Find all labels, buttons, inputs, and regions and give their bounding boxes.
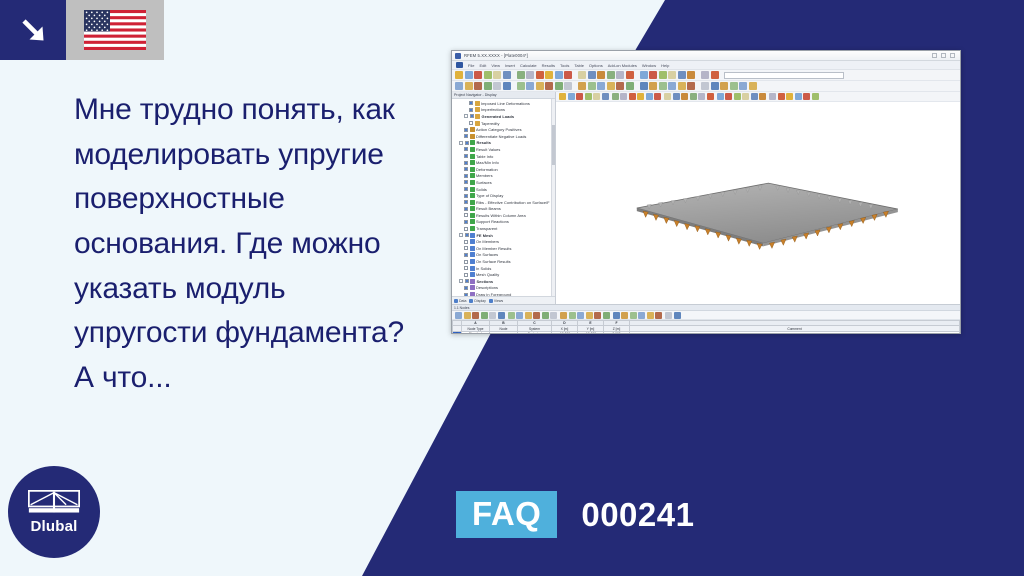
- tree-item-icon: [470, 239, 475, 244]
- toolbar-button-icon[interactable]: [607, 82, 615, 90]
- toolbar-button-icon[interactable]: [720, 82, 728, 90]
- menu-bar[interactable]: File Edit View Insert Calculate Results …: [452, 61, 960, 70]
- tree-item-icon: [470, 259, 475, 264]
- toolbar-button-icon[interactable]: [778, 93, 785, 100]
- tree-item-checkbox[interactable]: [470, 114, 474, 118]
- tree-item-icon: [470, 160, 475, 165]
- tree-item-checkbox[interactable]: [464, 213, 468, 217]
- tree-item-label: Table Info: [476, 154, 493, 159]
- toolbar-button-icon[interactable]: [730, 82, 738, 90]
- tree-item-icon: [470, 219, 475, 224]
- tree-item-checkbox[interactable]: [465, 279, 469, 283]
- toolbar-button-icon[interactable]: [559, 93, 566, 100]
- toolbar-button-icon[interactable]: [577, 312, 584, 319]
- viewport-toolbar[interactable]: [556, 92, 960, 102]
- tree-item-checkbox[interactable]: [464, 246, 468, 250]
- faq-badge: FAQ: [456, 491, 557, 538]
- toolbar-button-icon[interactable]: [568, 93, 575, 100]
- toolbar-button-icon[interactable]: [560, 312, 567, 319]
- navigator-tree-item[interactable]: In Solids: [452, 265, 555, 272]
- tree-item-label: Action Category Positives: [476, 127, 522, 132]
- tree-item-icon: [470, 154, 475, 159]
- toolbar-button-icon[interactable]: [640, 82, 648, 90]
- toolbar-button-icon[interactable]: [545, 82, 553, 90]
- navigator-tree-item[interactable]: Generated Loads: [452, 113, 555, 120]
- toolbar-button-icon[interactable]: [687, 82, 695, 90]
- navigator-tree-item[interactable]: Result Values: [452, 146, 555, 153]
- menu-item[interactable]: Window: [642, 63, 656, 68]
- toolbar-button-icon[interactable]: [484, 82, 492, 90]
- tree-item-label: Result Beams: [476, 206, 501, 211]
- menu-item[interactable]: Options: [589, 63, 603, 68]
- toolbar-button-icon[interactable]: [701, 71, 709, 79]
- toolbar-button-icon[interactable]: [678, 82, 686, 90]
- menu-item[interactable]: Calculate: [520, 63, 537, 68]
- toolbar-button-icon[interactable]: [717, 93, 724, 100]
- toolbar-button-icon[interactable]: [516, 312, 523, 319]
- navigator-tree-item[interactable]: Solids: [452, 186, 555, 193]
- toolbar-button-icon[interactable]: [576, 93, 583, 100]
- navigator-tree-item[interactable]: Imposed Line Deformations: [452, 100, 555, 107]
- tree-item-label: Draw in Foreground: [476, 292, 511, 296]
- table-cell[interactable]: -: [490, 331, 518, 334]
- tree-item-checkbox[interactable]: [464, 273, 468, 277]
- tree-item-label: On Surface Results: [476, 259, 511, 264]
- tree-item-label: In Solids: [476, 266, 491, 271]
- toolbar-button-icon[interactable]: [616, 71, 624, 79]
- tree-item-checkbox[interactable]: [464, 154, 468, 158]
- navigator-tree-item[interactable]: Results Within Column Area: [452, 212, 555, 219]
- tree-item-icon: [470, 292, 475, 296]
- tree-item-icon: [470, 266, 475, 271]
- navigator-tree-item[interactable]: Draw in Foreground: [452, 291, 555, 296]
- tree-item-label: Generated Loads: [482, 114, 515, 119]
- toolbar-button-icon[interactable]: [542, 312, 549, 319]
- tree-item-label: Results Within Column Area: [476, 213, 526, 218]
- tree-item-label: On Members: [476, 239, 499, 244]
- main-toolbar[interactable]: [452, 70, 960, 81]
- toolbar-button-icon[interactable]: [616, 82, 624, 90]
- tree-item-checkbox[interactable]: [464, 194, 468, 198]
- tree-item-icon: [475, 101, 480, 106]
- toolbar-button-icon[interactable]: [659, 82, 667, 90]
- navigator-tree-item[interactable]: Imperfections: [452, 107, 555, 114]
- toolbar-button-icon[interactable]: [550, 312, 557, 319]
- tree-item-icon: [470, 200, 475, 205]
- navigator-tree-item[interactable]: On Surface Results: [452, 258, 555, 265]
- tree-item-icon: [470, 180, 475, 185]
- truss-frame-icon: [27, 490, 81, 516]
- arrow-down-right-icon: [16, 13, 50, 47]
- navigator-scrollbar[interactable]: [551, 99, 555, 296]
- navigator-tree-item[interactable]: On Surfaces: [452, 252, 555, 259]
- toolbar-button-icon[interactable]: [481, 312, 488, 319]
- tree-item-checkbox[interactable]: [464, 240, 468, 244]
- row-number-cell[interactable]: 1: [453, 331, 462, 334]
- toolbar-button-icon[interactable]: [474, 82, 482, 90]
- toolbar-button-icon[interactable]: [472, 312, 479, 319]
- toolbar-button-icon[interactable]: [701, 82, 709, 90]
- tree-item-label: Descriptions: [476, 285, 498, 290]
- tree-item-icon: [470, 252, 475, 257]
- tree-item-icon: [475, 114, 480, 119]
- tree-item-checkbox[interactable]: [464, 128, 468, 132]
- toolbar-button-icon[interactable]: [455, 82, 463, 90]
- tree-item-checkbox[interactable]: [464, 167, 468, 171]
- tree-item-label: Transparent: [476, 226, 497, 231]
- close-button[interactable]: [950, 53, 955, 58]
- faq-number: 000241: [581, 498, 694, 531]
- tree-item-label: Members: [476, 173, 493, 178]
- toolbar-button-icon[interactable]: [665, 312, 672, 319]
- tree-item-checkbox[interactable]: [465, 233, 469, 237]
- tree-item-checkbox[interactable]: [469, 121, 473, 125]
- navigator-tree-item[interactable]: Mesh Quality: [452, 271, 555, 278]
- tree-item-icon: [470, 213, 475, 218]
- tree-item-label: Max/Min Info: [476, 160, 499, 165]
- tree-item-label: On Surfaces: [476, 252, 498, 257]
- toolbar-button-icon[interactable]: [555, 71, 563, 79]
- navigator-header: Project Navigator - Display: [452, 92, 555, 99]
- window-title: RFEM 5.XX.XXXX - [Plate0004*]: [464, 53, 528, 58]
- menu-item[interactable]: Insert: [505, 63, 515, 68]
- tree-item-icon: [470, 285, 475, 290]
- toolbar-button-icon[interactable]: [564, 71, 572, 79]
- toolbar-button-icon[interactable]: [786, 93, 793, 100]
- tree-item-label: Taperedity: [481, 121, 499, 126]
- table-panel[interactable]: 1.1 Nodes ABCDEFNode TypeNodeSystemX [m]…: [452, 304, 960, 334]
- toolbar-button-icon[interactable]: [503, 82, 511, 90]
- tree-expander-icon[interactable]: [459, 279, 463, 283]
- toolbar-button-icon[interactable]: [698, 93, 705, 100]
- tree-item-label: Surfaces: [476, 180, 492, 185]
- toolbar-button-icon[interactable]: [638, 312, 645, 319]
- toolbar-button-icon[interactable]: [640, 71, 648, 79]
- tree-item-label: Support Reactions: [476, 219, 509, 224]
- tree-item-checkbox[interactable]: [464, 253, 468, 257]
- toolbar-button-icon[interactable]: [555, 82, 563, 90]
- navigator-tree-item[interactable]: Table Info: [452, 153, 555, 160]
- navigator-tree-item[interactable]: Type of Display: [452, 192, 555, 199]
- work-area: Project Navigator - Display Imposed Line…: [452, 92, 960, 304]
- toolbar-button-icon[interactable]: [564, 82, 572, 90]
- navigator-tree-item[interactable]: On Members: [452, 238, 555, 245]
- table-cell[interactable]: -10.000: [578, 331, 604, 334]
- load-case-combo[interactable]: [724, 72, 844, 79]
- tree-item-icon: [470, 233, 475, 238]
- toolbar-button-icon[interactable]: [525, 312, 532, 319]
- toolbar-button-icon[interactable]: [588, 82, 596, 90]
- toolbar-button-icon[interactable]: [585, 93, 592, 100]
- tree-item-label: Differentiate Negative Loads: [476, 134, 526, 139]
- menu-item[interactable]: Results: [542, 63, 555, 68]
- toolbar-button-icon[interactable]: [637, 93, 644, 100]
- tree-item-checkbox[interactable]: [464, 134, 468, 138]
- toolbar-button-icon[interactable]: [489, 312, 496, 319]
- tree-item-label: Solids: [476, 187, 487, 192]
- toolbar-button-icon[interactable]: [536, 82, 544, 90]
- toolbar-button-icon[interactable]: [464, 312, 471, 319]
- tree-item-icon: [470, 272, 475, 277]
- navigator-tree-item[interactable]: Taperedity: [452, 120, 555, 127]
- tree-item-label: Imperfections: [481, 107, 505, 112]
- navigator-tree[interactable]: Imposed Line DeformationsImperfectionsGe…: [452, 99, 555, 296]
- navigator-tree-item[interactable]: Descriptions: [452, 285, 555, 292]
- tree-item-checkbox[interactable]: [464, 220, 468, 224]
- navigator-tree-item[interactable]: Deformation: [452, 166, 555, 173]
- navigator-tree-item[interactable]: Max/Min Info: [452, 159, 555, 166]
- tree-item-label: FE Mesh: [477, 233, 493, 238]
- toolbar-button-icon[interactable]: [586, 312, 593, 319]
- rfem-app-icon: [455, 53, 461, 59]
- dlubal-logo: Dlubal: [8, 466, 100, 558]
- toolbar-button-icon[interactable]: [711, 82, 719, 90]
- tree-item-icon: [470, 134, 475, 139]
- tree-item-checkbox[interactable]: [464, 174, 468, 178]
- toolbar-button-icon[interactable]: [647, 312, 654, 319]
- toolbar-button-icon[interactable]: [690, 93, 697, 100]
- toolbar-button-icon[interactable]: [812, 93, 819, 100]
- toolbar-button-icon[interactable]: [503, 71, 511, 79]
- menu-item[interactable]: File: [468, 63, 474, 68]
- menu-item[interactable]: View: [491, 63, 500, 68]
- menu-item[interactable]: Add-on Modules: [608, 63, 637, 68]
- tree-item-label: Deformation: [476, 167, 498, 172]
- tree-item-icon: [470, 173, 475, 178]
- table-cell[interactable]: Cartesian: [518, 331, 552, 334]
- toolbar-button-icon[interactable]: [517, 71, 525, 79]
- navigator-tree-item[interactable]: Members: [452, 173, 555, 180]
- tree-item-checkbox[interactable]: [464, 147, 468, 151]
- tree-item-icon: [470, 206, 475, 211]
- tree-item-icon: [470, 127, 475, 132]
- navigator-tree-item[interactable]: Action Category Positives: [452, 126, 555, 133]
- logo-wordmark: Dlubal: [30, 519, 77, 534]
- toolbar-button-icon[interactable]: [493, 71, 501, 79]
- toolbar-button-icon[interactable]: [493, 82, 501, 90]
- tree-item-icon: [475, 107, 480, 112]
- toolbar-button-icon[interactable]: [649, 71, 657, 79]
- table-cell[interactable]: 0.000: [604, 331, 630, 334]
- toolbar-button-icon[interactable]: [795, 93, 802, 100]
- toolbar-button-icon[interactable]: [517, 82, 525, 90]
- table-cell[interactable]: [630, 331, 960, 334]
- tree-item-checkbox[interactable]: [464, 227, 468, 231]
- sheet: ABCDEFNode TypeNodeSystemX [m]Y [m]Z [m]…: [452, 320, 960, 334]
- navigator-tree-item[interactable]: Ribs - Effective Contribution on Surface…: [452, 199, 555, 206]
- arrow-badge: [0, 0, 66, 60]
- toolbar-button-icon[interactable]: [620, 93, 627, 100]
- tree-item-icon: [470, 193, 475, 198]
- toolbar-button-icon[interactable]: [465, 71, 473, 79]
- toolbar-button-icon[interactable]: [455, 71, 463, 79]
- page-title: Мне трудно понять, как моделировать упру…: [74, 88, 426, 401]
- toolbar-button-icon[interactable]: [526, 71, 534, 79]
- tree-item-icon: [470, 246, 475, 251]
- slide-canvas: Мне трудно понять, как моделировать упру…: [0, 0, 1024, 576]
- toolbar-button-icon[interactable]: [649, 82, 657, 90]
- tree-expander-icon[interactable]: [459, 233, 463, 237]
- toolbar-button-icon[interactable]: [465, 82, 473, 90]
- language-flag-badge[interactable]: [66, 0, 164, 60]
- tree-item-icon: [470, 187, 475, 192]
- tree-item-checkbox[interactable]: [464, 286, 468, 290]
- table-row[interactable]: 1Standard-Cartesian-10.000-10.0000.000: [453, 331, 960, 334]
- tree-item-checkbox[interactable]: [469, 101, 473, 105]
- tree-item-label: Type of Display: [476, 193, 503, 198]
- toolbar-button-icon[interactable]: [630, 312, 637, 319]
- toolbar-button-icon[interactable]: [621, 312, 628, 319]
- tree-item-icon: [470, 226, 475, 231]
- toolbar-button-icon[interactable]: [569, 312, 576, 319]
- navigator-tree-item[interactable]: Differentiate Negative Loads: [452, 133, 555, 140]
- toolbar-button-icon[interactable]: [769, 93, 776, 100]
- toolbar-button-icon[interactable]: [678, 71, 686, 79]
- table-cell[interactable]: -10.000: [552, 331, 578, 334]
- tree-item-label: Ribs - Effective Contribution on Surface…: [476, 200, 550, 205]
- toolbar-button-icon[interactable]: [533, 312, 540, 319]
- tree-item-icon: [475, 121, 480, 126]
- navigator-tab-views[interactable]: Views: [489, 299, 503, 303]
- toolbar-button-icon[interactable]: [474, 71, 482, 79]
- maximize-button[interactable]: [941, 53, 946, 58]
- menu-item[interactable]: Table: [574, 63, 584, 68]
- toolbar-button-icon[interactable]: [646, 93, 653, 100]
- toolbar-button-icon[interactable]: [593, 93, 600, 100]
- corner-header: [0, 0, 164, 60]
- tree-item-icon: [470, 279, 475, 284]
- tree-item-icon: [470, 167, 475, 172]
- tree-item-label: Mesh Quality: [476, 272, 499, 277]
- toolbar-button-icon[interactable]: [594, 312, 601, 319]
- toolbar-button-icon[interactable]: [664, 93, 671, 100]
- tree-item-icon: [470, 140, 475, 145]
- navigator-tree-item[interactable]: On Member Results: [452, 245, 555, 252]
- navigator-tree-item[interactable]: Sections: [452, 278, 555, 285]
- toolbar-button-icon[interactable]: [673, 93, 680, 100]
- navigator-tree-item[interactable]: Surfaces: [452, 179, 555, 186]
- toolbar-button-icon[interactable]: [536, 71, 544, 79]
- toolbar-button-icon[interactable]: [681, 93, 688, 100]
- toolbar-button-icon[interactable]: [613, 312, 620, 319]
- minimize-button[interactable]: [932, 53, 937, 58]
- tree-item-checkbox[interactable]: [465, 141, 469, 145]
- window-controls[interactable]: [932, 53, 957, 58]
- navigator-tree-item[interactable]: Transparent: [452, 225, 555, 232]
- toolbar-button-icon[interactable]: [711, 71, 719, 79]
- tree-item-checkbox[interactable]: [464, 187, 468, 191]
- nodes-table[interactable]: ABCDEFNode TypeNodeSystemX [m]Y [m]Z [m]…: [452, 320, 960, 334]
- menu-logo-icon: [456, 62, 463, 68]
- menu-item[interactable]: Tools: [560, 63, 569, 68]
- toolbar-button-icon[interactable]: [674, 312, 681, 319]
- rfem-application-window[interactable]: RFEM 5.XX.XXXX - [Plate0004*] File Edit …: [451, 50, 961, 334]
- tree-item-label: Result Values: [476, 147, 500, 152]
- toolbar-button-icon[interactable]: [751, 93, 758, 100]
- toolbar-button-icon[interactable]: [607, 71, 615, 79]
- toolbar-button-icon[interactable]: [597, 82, 605, 90]
- toolbar-button-icon[interactable]: [597, 71, 605, 79]
- window-titlebar[interactable]: RFEM 5.XX.XXXX - [Plate0004*]: [452, 51, 960, 61]
- tree-item-checkbox[interactable]: [469, 108, 473, 112]
- navigator-tab-display[interactable]: Display: [469, 299, 485, 303]
- navigator-tree-item[interactable]: Support Reactions: [452, 219, 555, 226]
- us-flag-icon: [84, 10, 146, 50]
- toolbar-button-icon[interactable]: [759, 93, 766, 100]
- navigator-tree-item[interactable]: Results: [452, 140, 555, 147]
- toolbar-button-icon[interactable]: [668, 71, 676, 79]
- tree-item-label: On Member Results: [476, 246, 511, 251]
- toolbar-button-icon[interactable]: [508, 312, 515, 319]
- plate-with-line-supports-3d-model: [556, 102, 960, 304]
- navigator-tabs[interactable]: Data Display Views: [452, 296, 555, 304]
- toolbar-button-icon[interactable]: [668, 82, 676, 90]
- tree-item-checkbox[interactable]: [464, 200, 468, 204]
- toolbar-button-icon[interactable]: [659, 71, 667, 79]
- toolbar-button-icon[interactable]: [749, 82, 757, 90]
- toolbar-button-icon[interactable]: [725, 93, 732, 100]
- tree-item-label: Imposed Line Deformations: [481, 101, 530, 106]
- table-cell[interactable]: Standard: [462, 331, 490, 334]
- toolbar-button-icon[interactable]: [603, 312, 610, 319]
- toolbar-button-icon[interactable]: [588, 71, 596, 79]
- tree-expander-icon[interactable]: [459, 141, 463, 145]
- menu-item[interactable]: Edit: [479, 63, 486, 68]
- navigator-tree-item[interactable]: Result Beams: [452, 206, 555, 213]
- tree-item-label: Results: [477, 140, 491, 145]
- toolbar-button-icon[interactable]: [742, 93, 749, 100]
- navigator-tree-item[interactable]: FE Mesh: [452, 232, 555, 239]
- toolbar-button-icon[interactable]: [578, 82, 586, 90]
- toolbar-button-icon[interactable]: [455, 312, 462, 319]
- tree-item-checkbox[interactable]: [464, 266, 468, 270]
- toolbar-button-icon[interactable]: [526, 82, 534, 90]
- toolbar-button-icon[interactable]: [687, 71, 695, 79]
- toolbar-button-icon[interactable]: [498, 312, 505, 319]
- toolbar-button-icon[interactable]: [739, 82, 747, 90]
- tree-item-checkbox[interactable]: [464, 260, 468, 264]
- tree-item-checkbox[interactable]: [464, 180, 468, 184]
- toolbar-button-icon[interactable]: [545, 71, 553, 79]
- toolbar-button-icon[interactable]: [626, 71, 634, 79]
- tree-item-checkbox[interactable]: [464, 161, 468, 165]
- toolbar-button-icon[interactable]: [734, 93, 741, 100]
- toolbar-button-icon[interactable]: [655, 312, 662, 319]
- toolbar-button-icon[interactable]: [626, 82, 634, 90]
- toolbar-button-icon[interactable]: [803, 93, 810, 100]
- toolbar-button-icon[interactable]: [629, 93, 636, 100]
- tree-item-checkbox[interactable]: [464, 207, 468, 211]
- tree-item-label: Sections: [477, 279, 494, 284]
- navigator-tab-data[interactable]: Data: [454, 299, 466, 303]
- model-viewport[interactable]: [556, 92, 960, 304]
- secondary-toolbar[interactable]: [452, 81, 960, 92]
- project-navigator[interactable]: Project Navigator - Display Imposed Line…: [452, 92, 556, 304]
- menu-item[interactable]: Help: [661, 63, 669, 68]
- toolbar-button-icon[interactable]: [602, 93, 609, 100]
- toolbar-button-icon[interactable]: [654, 93, 661, 100]
- toolbar-button-icon[interactable]: [484, 71, 492, 79]
- toolbar-button-icon[interactable]: [578, 71, 586, 79]
- toolbar-button-icon[interactable]: [612, 93, 619, 100]
- tree-expander-icon[interactable]: [464, 114, 468, 118]
- tree-item-icon: [470, 147, 475, 152]
- faq-footer: FAQ 000241: [456, 491, 694, 538]
- tree-item-checkbox[interactable]: [464, 293, 468, 296]
- table-toolbar[interactable]: [452, 311, 960, 320]
- toolbar-button-icon[interactable]: [707, 93, 714, 100]
